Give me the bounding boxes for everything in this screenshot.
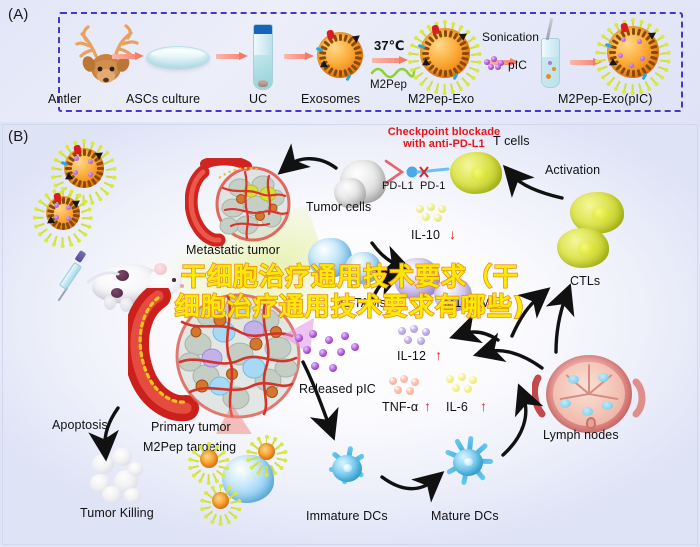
tnfa-dots-icon <box>387 375 423 397</box>
step-label-uc: UC <box>249 92 267 106</box>
tumor-cells-label: Tumor cells <box>306 200 371 214</box>
exosome-particle-1 <box>64 148 104 188</box>
il12-label: IL-12 <box>397 349 426 363</box>
m2pep-label: M2Pep <box>370 79 407 91</box>
il12-dots-icon <box>396 325 434 347</box>
il6-up-arrow: ↑ <box>480 398 487 414</box>
ctls-label: CTLs <box>570 274 600 288</box>
immature-dcs-label: Immature DCs <box>306 509 388 523</box>
petri-dish-icon <box>146 46 210 70</box>
watermark-line-2: 细胞治疗通用技术要求有哪些) <box>175 292 525 322</box>
pd1-label: PD-1 <box>420 180 445 192</box>
immature-dc-icon <box>318 440 376 496</box>
primary-tumor-label: Primary tumor <box>151 420 231 434</box>
figure-root: (A) Antler <box>0 0 700 547</box>
process-arrow-1 <box>112 52 144 61</box>
il6-dots-icon <box>444 373 482 395</box>
il12-up-arrow: ↑ <box>435 347 442 363</box>
exosome-icon <box>317 32 363 78</box>
sonication-label: Sonication <box>482 30 539 44</box>
released-pic-dots-icon <box>295 330 361 378</box>
t-cell-icon <box>450 152 502 194</box>
watermark-line-1: 干细胞治疗通用技术要求（干 <box>181 262 519 292</box>
step-label-antler: Antler <box>48 92 81 106</box>
targeting-exosome-icon <box>200 450 218 468</box>
il10-dots-icon <box>416 203 452 225</box>
centrifuge-tube-icon <box>253 24 273 90</box>
il10-label: IL-10 <box>411 228 440 242</box>
mature-dcs-label: Mature DCs <box>431 509 499 523</box>
step-label-exosomes: Exosomes <box>301 92 360 106</box>
sonication-tube-icon <box>541 38 560 88</box>
mature-dc-icon <box>437 432 499 492</box>
metastatic-tumor-label: Metastatic tumor <box>186 243 280 257</box>
apoptotic-tumor-icon <box>88 448 146 504</box>
ctl-cell-icon <box>557 228 609 268</box>
pdl1-label: PD-L1 <box>382 180 414 192</box>
lymph-nodes-label: Lymph nodes <box>543 428 619 442</box>
targeting-exosome-icon <box>212 492 229 509</box>
peptide-exosome-icon <box>420 28 470 78</box>
targeting-exosome-icon <box>258 443 275 460</box>
panel-a-tag: (A) <box>8 6 29 23</box>
panel-a: (A) Antler <box>0 0 700 122</box>
released-pic-label: Released pIC <box>299 382 376 396</box>
panel-b-tag: (B) <box>8 128 29 145</box>
tumor-killing-label: Tumor Killing <box>80 506 154 520</box>
exosome-particle-2 <box>46 196 80 230</box>
loaded-exosome-icon <box>607 26 659 78</box>
step-label-m2pep-exo: M2Pep-Exo <box>408 92 474 106</box>
tnfa-up-arrow: ↑ <box>424 398 431 414</box>
t-cells-label: T cells <box>493 134 530 148</box>
pic-dots-icon <box>484 56 506 70</box>
tnfa-label: TNF-α <box>382 400 418 414</box>
il6-label: IL-6 <box>446 400 468 414</box>
step-label-asc-culture: ASCs culture <box>126 92 200 106</box>
apoptosis-label: Apoptosis <box>52 418 108 432</box>
il10-down-arrow: ↓ <box>449 226 456 242</box>
m2pep-peptide-icon <box>370 64 416 80</box>
metastatic-tumor-icon <box>185 158 305 248</box>
step-label-m2pep-exo-pic: M2Pep-Exo(pIC) <box>558 92 653 106</box>
temperature-label: 37℃ <box>374 38 405 54</box>
process-arrow-2 <box>216 52 248 61</box>
pic-label: pIC <box>508 58 527 72</box>
activation-label: Activation <box>545 163 600 177</box>
